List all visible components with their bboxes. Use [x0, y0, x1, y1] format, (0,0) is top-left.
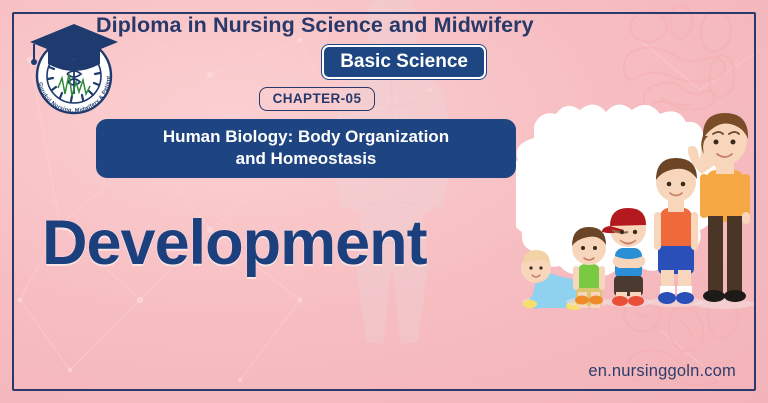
subject-title-line-1: Human Biology: Body Organization: [112, 126, 500, 147]
header-block: Diploma in Nursing Science and Midwifery…: [96, 14, 516, 178]
chapter-badge[interactable]: CHAPTER-05: [259, 87, 376, 111]
figure-adult-waving: [688, 113, 754, 309]
figure-child-red-cap: [602, 208, 652, 307]
headline-development: Development: [42, 212, 427, 275]
chapter-badge-row: CHAPTER-05: [96, 87, 516, 111]
website-url[interactable]: en.nursinggoln.com: [588, 362, 736, 381]
subject-title-line-2: and Homeostasis: [112, 148, 500, 169]
subject-badge-row: Basic Science: [96, 45, 516, 80]
figure-teen-orange: [648, 158, 704, 307]
subject-title-bar: Human Biology: Body Organization and Hom…: [96, 119, 516, 178]
human-figures-group: [516, 96, 754, 321]
course-title: Diploma in Nursing Science and Midwifery: [96, 14, 516, 38]
poster-canvas: Gurukul Nursing, Midwifery & Patient Car…: [0, 0, 768, 403]
growth-stages-illustration: [516, 96, 754, 321]
subject-badge[interactable]: Basic Science: [322, 45, 486, 80]
